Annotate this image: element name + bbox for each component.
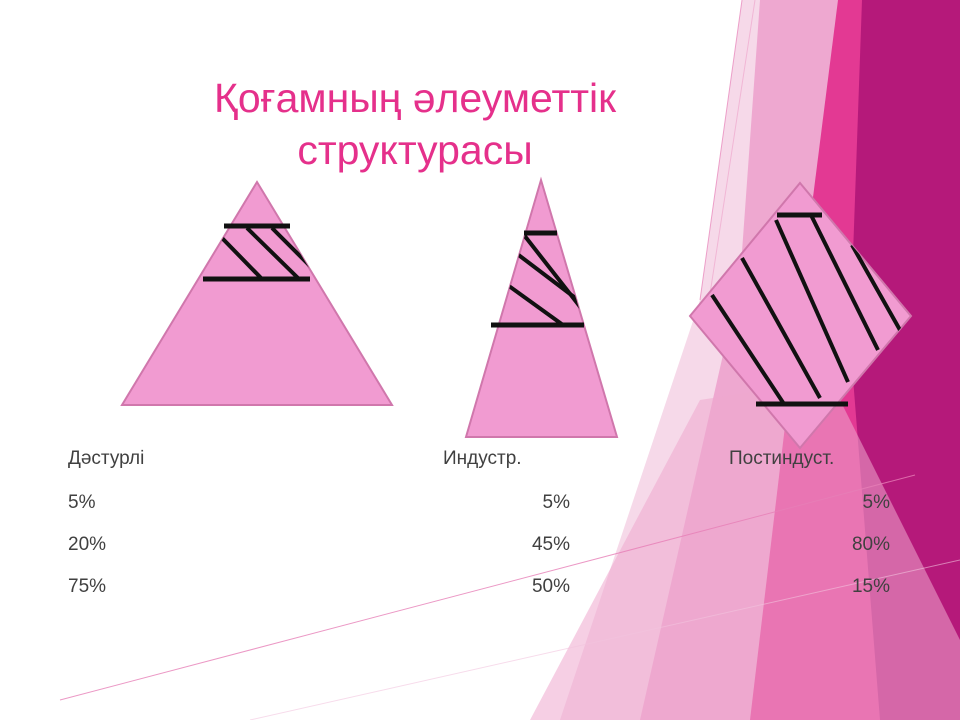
value-traditional-lower: 75% xyxy=(68,576,106,598)
value-industrial-middle: 45% xyxy=(532,534,570,556)
value-industrial-upper: 5% xyxy=(543,492,570,514)
column-label-postindustrial: Постиндуст. xyxy=(729,448,834,470)
value-traditional-middle: 20% xyxy=(68,534,106,556)
traditional-pyramid xyxy=(122,182,392,405)
column-label-industrial: Индустр. xyxy=(443,448,522,470)
traditional-pyramid-body xyxy=(122,182,392,405)
value-traditional-upper: 5% xyxy=(68,492,95,514)
value-postindustrial-upper: 5% xyxy=(863,492,890,514)
slide-title: Қоғамның әлеуметтік структурасы xyxy=(90,72,740,177)
industrial-pyramid xyxy=(466,180,617,437)
value-industrial-lower: 50% xyxy=(532,576,570,598)
presentation-slide: Қоғамның әлеуметтік структурасы Дәстурлі… xyxy=(0,0,960,720)
column-label-traditional: Дәстурлі xyxy=(68,448,144,470)
value-postindustrial-middle: 80% xyxy=(852,534,890,556)
postindustrial-diamond xyxy=(690,183,911,448)
value-postindustrial-lower: 15% xyxy=(852,576,890,598)
